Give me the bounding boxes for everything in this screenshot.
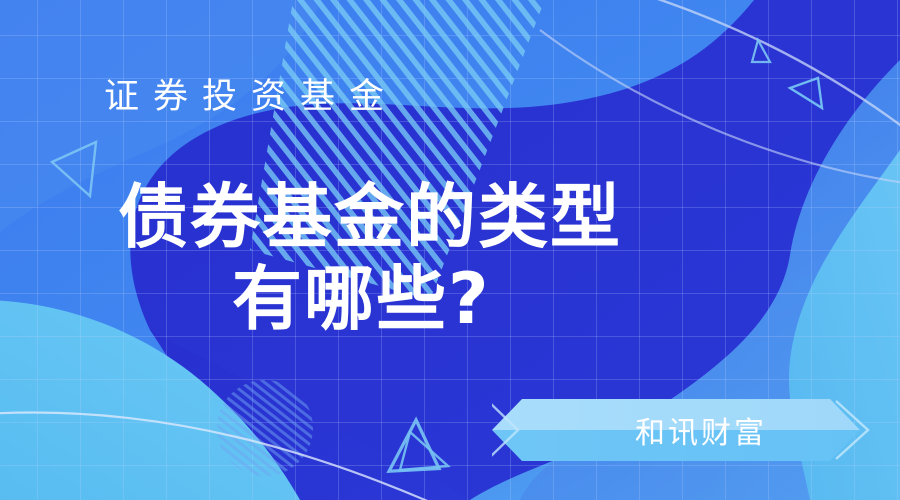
brand-banner: 和讯财富 — [492, 399, 896, 461]
poster-canvas: 证券投资基金 债券基金的类型 有哪些? — [0, 0, 900, 500]
striped-circle — [217, 380, 313, 476]
poster-subtitle: 证券投资基金 — [104, 76, 398, 120]
triangle-bottom-center — [389, 420, 439, 471]
triangle-bottom-center-2 — [400, 432, 448, 470]
poster-title: 债券基金的类型 有哪些? — [0, 176, 680, 340]
poster-title-line-2: 有哪些? — [0, 258, 680, 340]
brand-banner-label: 和讯财富 — [492, 399, 896, 461]
arc-lower — [0, 413, 470, 500]
arc-upper — [560, 0, 900, 140]
poster-title-line-1: 债券基金的类型 — [0, 176, 680, 258]
triangle-top-right-small — [752, 40, 770, 62]
triangle-top-right-large — [790, 78, 822, 108]
blob-deep-blue-tail — [150, 330, 470, 500]
arc-upper-2 — [540, 30, 900, 185]
